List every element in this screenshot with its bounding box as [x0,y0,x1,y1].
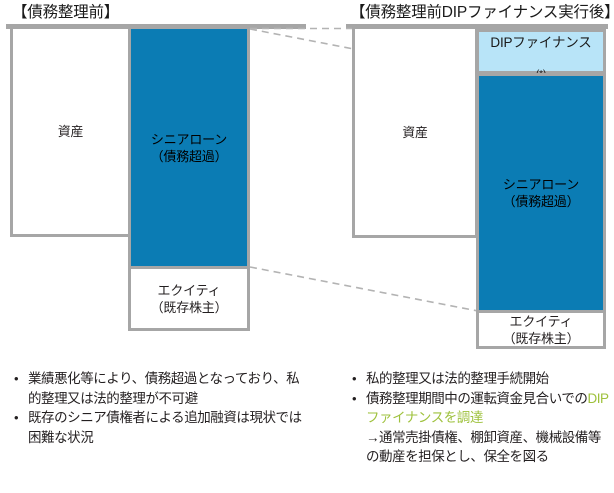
right-bullet-subnote: →通常売掛債権、棚卸資産、機械設備等の動産を担保とし、保全を図る [366,428,610,467]
left-bullet-text-2: 既存のシニア債権者による追加融資は現状では困難な状況 [28,408,304,447]
left-bullet-list: • 業績悪化等により、債務超過となっており、私的整理又は法的整理が不可避 • 既… [14,369,304,447]
bullet-marker-icon: • [14,408,28,428]
left-bullet-item-1: • 業績悪化等により、債務超過となっており、私的整理又は法的整理が不可避 [14,369,304,408]
left-panel-title: 【債務整理前】 [12,4,119,22]
right-assets-label: 資産 [402,124,428,141]
left-equity-box: エクイティ （既存株主） [128,266,250,331]
bullet-marker-icon: • [14,369,28,389]
right-bullet-text-2-plain: 債務整理期間中の運転資金見合いでの [366,391,587,406]
right-dip-finance-label: DIPファイナンス [490,35,591,50]
bullet-marker-icon: • [352,369,366,389]
left-senior-loan-box: シニアローン （債務超過） [128,26,250,269]
right-equity-box: エクイティ （既存株主） [476,310,606,349]
right-bullet-text-2: 債務整理期間中の運転資金見合いでのDIPファイナンスを調達 [366,389,610,428]
right-senior-loan-box: シニアローン （債務超過） [476,73,606,313]
slide-canvas: 【債務整理前】 【債務整理前DIPファイナンス実行後】 資産 シニアローン （債… [0,0,614,493]
left-equity-label: エクイティ （既存株主） [151,282,228,316]
bullet-marker-icon: • [352,389,366,409]
right-senior-loan-label: シニアローン （債務超過） [503,176,580,210]
right-bullet-list: • 私的整理又は法的整理手続開始 • 債務整理期間中の運転資金見合いでのDIPフ… [352,369,610,467]
right-bullet-text-1: 私的整理又は法的整理手続開始 [366,369,610,389]
right-bullet-subnote-text: →通常売掛債権、棚卸資産、機械設備等の動産を担保とし、保全を図る [366,430,601,465]
left-bullet-item-2: • 既存のシニア債権者による追加融資は現状では困難な状況 [14,408,304,447]
right-assets-box: 資産 [352,26,478,238]
right-dip-finance-box: DIPファイナンス (*) [476,29,606,74]
connector-bottom-diagonal [250,267,478,311]
left-bullet-text-1: 業績悪化等により、債務超過となっており、私的整理又は法的整理が不可避 [28,369,304,408]
right-bullet-item-1: • 私的整理又は法的整理手続開始 [352,369,610,389]
left-senior-loan-label: シニアローン （債務超過） [151,131,228,165]
left-assets-label: 資産 [58,123,84,140]
right-bullet-item-2: • 債務整理期間中の運転資金見合いでのDIPファイナンスを調達 [352,389,610,428]
left-assets-box: 資産 [10,26,131,237]
right-equity-label: エクイティ （既存株主） [503,313,580,347]
